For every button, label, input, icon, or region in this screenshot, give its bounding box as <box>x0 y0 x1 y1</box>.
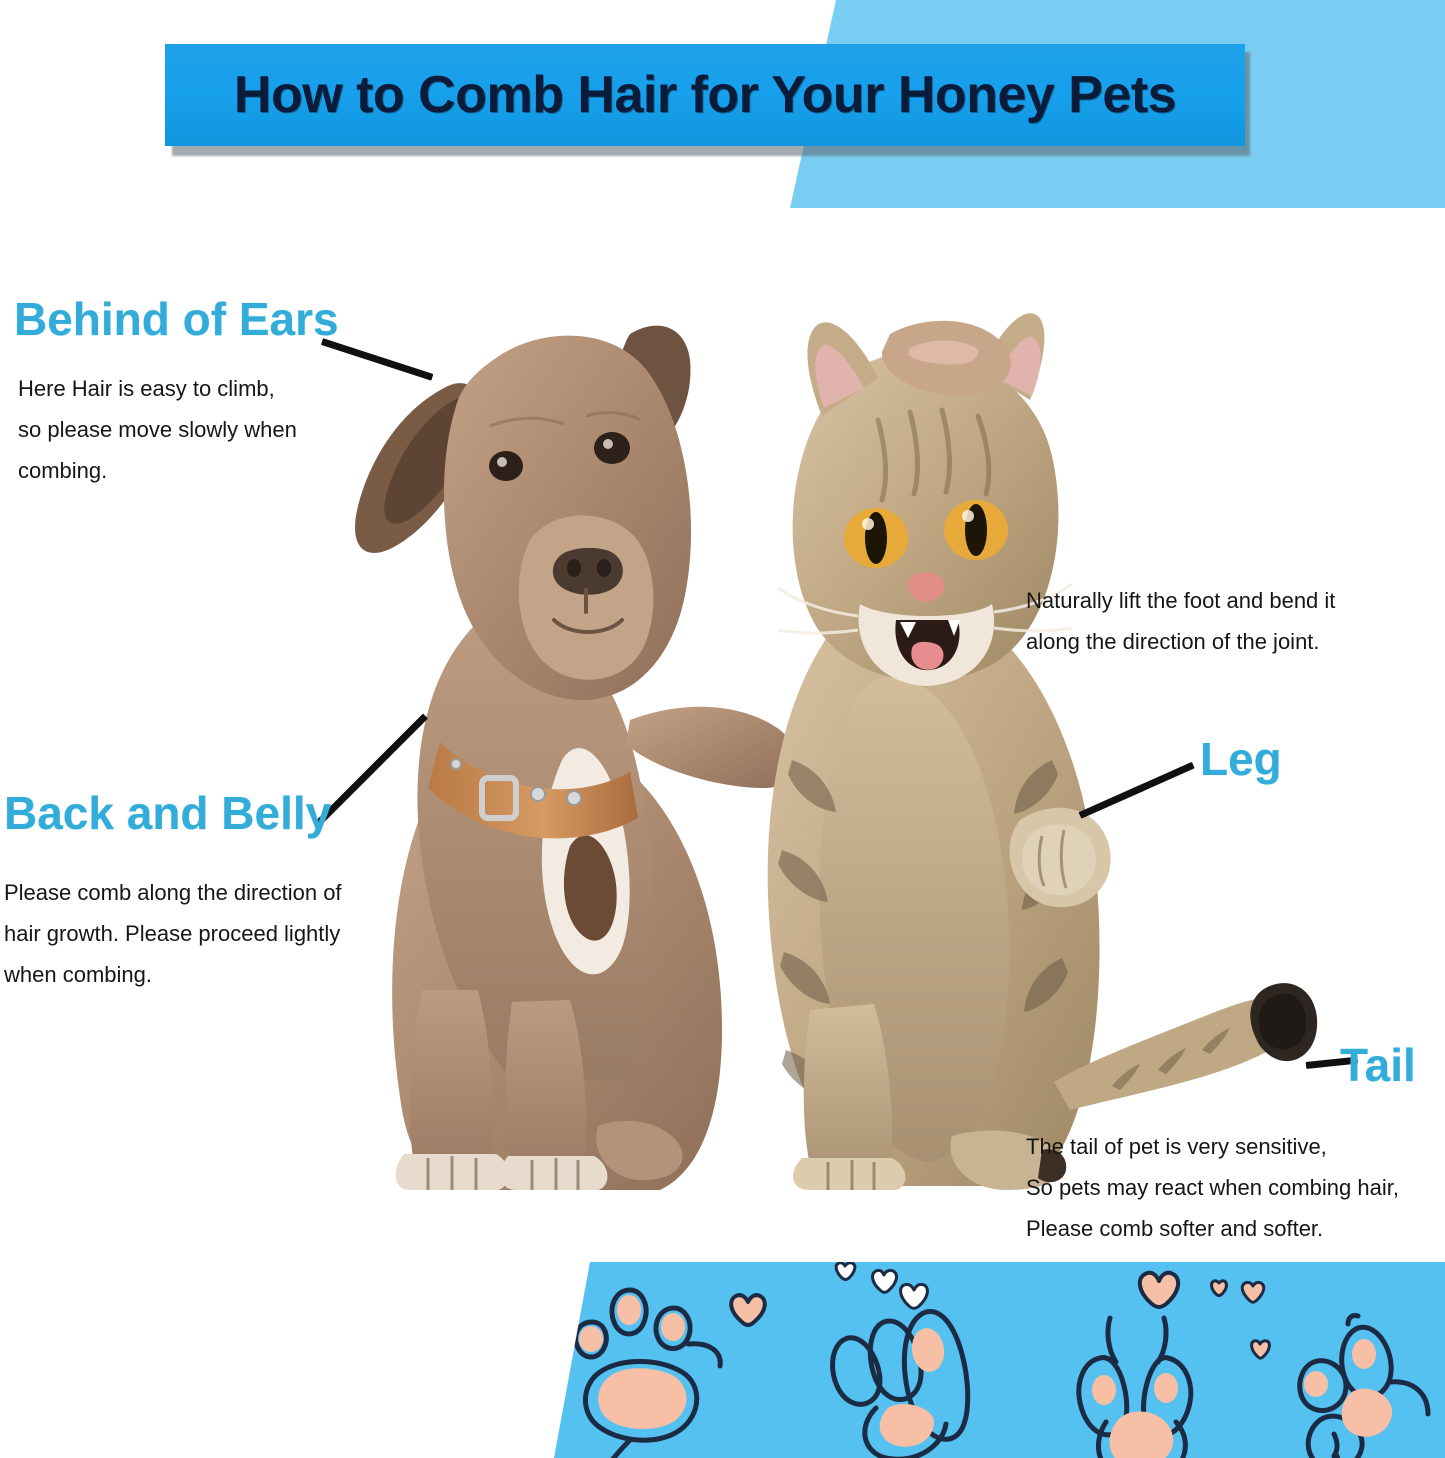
bottom-paw-banner <box>540 1262 1445 1458</box>
heart <box>731 1295 765 1325</box>
heart <box>1212 1281 1227 1296</box>
callout-text-ears: Here Hair is easy to climb, so please mo… <box>18 368 438 491</box>
pets-illustration <box>330 290 1330 1190</box>
callout-heading-leg: Leg <box>1200 732 1282 786</box>
callout-text-back-belly: Please comb along the direction of hair … <box>4 872 424 995</box>
heart <box>901 1284 928 1308</box>
page-title: How to Comb Hair for Your Honey Pets <box>234 65 1176 125</box>
callout-text-tail: The tail of pet is very sensitive, So pe… <box>1026 1126 1445 1249</box>
callout-heading-ears: Behind of Ears <box>14 292 339 346</box>
title-bar: How to Comb Hair for Your Honey Pets <box>165 44 1245 146</box>
callout-heading-back-belly: Back and Belly <box>4 786 331 840</box>
heart <box>873 1270 897 1292</box>
heart <box>836 1263 855 1280</box>
heart <box>1140 1273 1178 1307</box>
heart <box>1242 1282 1264 1302</box>
infographic-page: How to Comb Hair for Your Honey Pets <box>0 0 1445 1458</box>
callout-heading-tail: Tail <box>1340 1038 1416 1092</box>
heart <box>1252 1341 1270 1359</box>
callout-text-leg: Naturally lift the foot and bend it alon… <box>1026 580 1445 662</box>
